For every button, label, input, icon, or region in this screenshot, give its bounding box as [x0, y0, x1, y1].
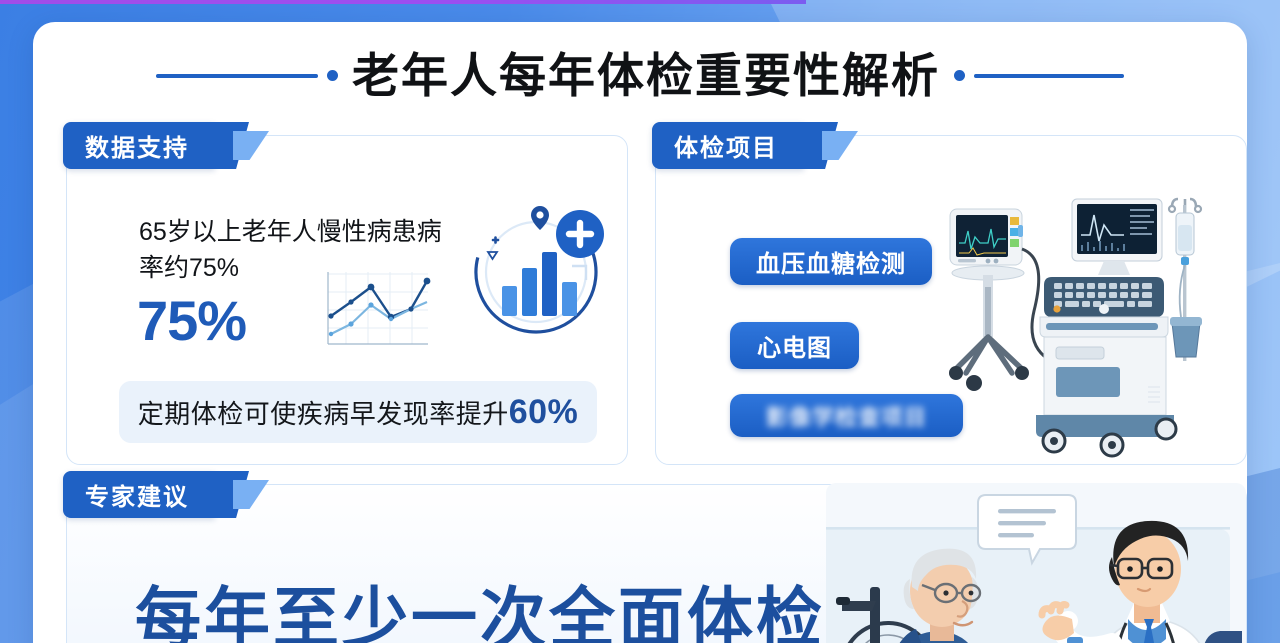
panel-data-support: 数据支持 65岁以上老年人慢性病患病率约75% 75%	[66, 135, 628, 465]
exam-item-blurred[interactable]: 影像学检查项目	[730, 394, 963, 437]
rule-dot-right	[954, 70, 965, 81]
section-tab-tail	[822, 131, 858, 160]
mini-line-chart	[314, 264, 432, 356]
highlight-value: 60%	[509, 393, 579, 431]
exam-item-label: 影像学检查项目	[766, 400, 927, 432]
exam-item-label: 血压血糖检测	[756, 244, 906, 279]
section-tab-expert-advice: 专家建议	[63, 471, 269, 518]
section-tab-data-support: 数据支持	[63, 122, 269, 169]
rule-line-left	[156, 74, 318, 78]
panel-expert-advice: 专家建议 每年至少一次全面体检	[66, 484, 1247, 643]
highlight-prefix: 定期体检可使疾病早发现率提升	[138, 399, 509, 429]
title-rule-right	[954, 70, 1124, 81]
section-tab-label-data-support: 数据支持	[63, 122, 215, 169]
expert-advice-text: 每年至少一次全面体检	[135, 565, 825, 643]
page-title: 老年人每年体检重要性解析	[352, 52, 940, 99]
bar-chart-circle-icon	[466, 196, 612, 342]
rule-dot-left	[327, 70, 338, 81]
section-tab-label-exam-items: 体检项目	[652, 122, 804, 169]
ecg-cart	[1036, 199, 1176, 456]
stat-big-value: 75%	[137, 288, 246, 353]
iv-pole	[1169, 199, 1202, 361]
infographic-card: 老年人每年体检重要性解析 数据支持 65岁以上老年人慢性病患病率约75% 75%	[33, 22, 1247, 643]
section-tab-exam-items: 体检项目	[652, 122, 858, 169]
highlight-text: 定期体检可使疾病早发现率提升60%	[138, 393, 579, 432]
patient-monitor	[950, 209, 1023, 265]
section-tab-tail	[233, 131, 269, 160]
highlight-box: 定期体检可使疾病早发现率提升60%	[119, 381, 597, 443]
title-rule-left	[156, 70, 338, 81]
doctor-patient-illustration	[826, 483, 1246, 643]
section-tab-tail	[233, 480, 269, 509]
panel-exam-items: 体检项目 血压血糖检测 心电图 影像学检查项目	[655, 135, 1247, 465]
medical-plus-icon	[556, 210, 604, 258]
exam-item-label: 心电图	[757, 328, 832, 363]
location-pin-icon	[531, 206, 549, 230]
page-title-row: 老年人每年体检重要性解析	[33, 52, 1247, 99]
medical-equipment-photo	[944, 191, 1240, 459]
top-accent-bar	[0, 0, 806, 4]
section-tab-label-expert-advice: 专家建议	[63, 471, 215, 518]
rule-line-right	[974, 74, 1124, 78]
exam-item-ecg[interactable]: 心电图	[730, 322, 859, 369]
exam-item-blood-pressure-glucose[interactable]: 血压血糖检测	[730, 238, 932, 285]
